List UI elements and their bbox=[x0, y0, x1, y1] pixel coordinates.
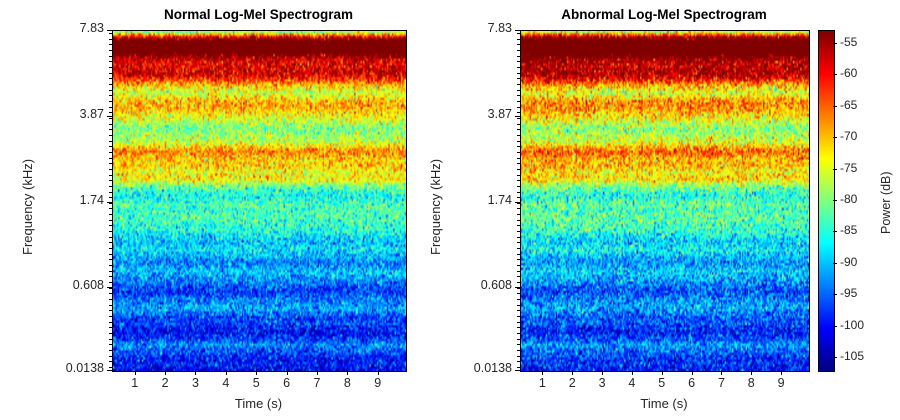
colorbar-tick-label-5: -80 bbox=[840, 192, 857, 206]
ytick-minor-abnormal bbox=[517, 316, 520, 317]
ytick-minor-abnormal bbox=[517, 67, 520, 68]
xtick-label-normal-8: 9 bbox=[358, 376, 398, 390]
ytick-minor-abnormal bbox=[517, 299, 520, 300]
ytick-minor-abnormal bbox=[517, 339, 520, 340]
ytick-minor-normal bbox=[109, 310, 112, 311]
ytick-minor-normal bbox=[109, 163, 112, 164]
xtick-label-abnormal-8: 9 bbox=[761, 376, 801, 390]
ytick-minor-normal bbox=[109, 180, 112, 181]
xtick-mark-normal-3 bbox=[226, 370, 227, 375]
ytick-minor-normal bbox=[109, 101, 112, 102]
ytick-minor-normal bbox=[109, 90, 112, 91]
ytick-minor-normal bbox=[109, 124, 112, 125]
colorbar-tick-mark-10 bbox=[833, 357, 837, 358]
ytick-minor-normal bbox=[109, 276, 112, 277]
ytick-minor-abnormal bbox=[517, 356, 520, 357]
ytick-minor-normal bbox=[109, 112, 112, 113]
ytick-minor-abnormal bbox=[517, 135, 520, 136]
colorbar-tick-mark-1 bbox=[833, 74, 837, 75]
colorbar-tick-label-2: -65 bbox=[840, 98, 857, 112]
ytick-minor-normal bbox=[109, 33, 112, 34]
ytick-label-abnormal-2: 1.74 bbox=[446, 193, 512, 207]
ytick-mark-abnormal-0 bbox=[515, 30, 520, 31]
ytick-minor-abnormal bbox=[517, 152, 520, 153]
ytick-minor-abnormal bbox=[517, 242, 520, 243]
ytick-minor-abnormal bbox=[517, 237, 520, 238]
spectrogram-image-abnormal bbox=[521, 31, 809, 371]
xtick-mark-abnormal-7 bbox=[751, 370, 752, 375]
ytick-minor-abnormal bbox=[517, 225, 520, 226]
ytick-minor-normal bbox=[109, 333, 112, 334]
ytick-minor-normal bbox=[109, 129, 112, 130]
ytick-minor-normal bbox=[109, 158, 112, 159]
colorbar-tick-mark-9 bbox=[833, 326, 837, 327]
colorbar-tick-label-8: -95 bbox=[840, 286, 857, 300]
xtick-mark-abnormal-5 bbox=[692, 370, 693, 375]
ytick-minor-abnormal bbox=[517, 73, 520, 74]
ytick-minor-normal bbox=[109, 203, 112, 204]
ytick-minor-abnormal bbox=[517, 367, 520, 368]
ytick-minor-normal bbox=[109, 84, 112, 85]
ytick-minor-abnormal bbox=[517, 169, 520, 170]
ytick-minor-normal bbox=[109, 356, 112, 357]
xtick-mark-normal-5 bbox=[287, 370, 288, 375]
ytick-label-abnormal-1: 3.87 bbox=[446, 107, 512, 121]
ytick-minor-abnormal bbox=[517, 78, 520, 79]
colorbar-tick-mark-2 bbox=[833, 106, 837, 107]
ytick-minor-normal bbox=[109, 293, 112, 294]
ytick-minor-normal bbox=[109, 39, 112, 40]
colorbar-tick-label-4: -75 bbox=[840, 161, 857, 175]
panel-title-abnormal: Abnormal Log-Mel Spectrogram bbox=[520, 7, 808, 22]
ytick-minor-normal bbox=[109, 259, 112, 260]
ytick-mark-normal-0 bbox=[107, 30, 112, 31]
colorbar-tick-label-9: -100 bbox=[840, 318, 864, 332]
colorbar-tick-mark-0 bbox=[833, 43, 837, 44]
ytick-minor-abnormal bbox=[517, 208, 520, 209]
ytick-minor-abnormal bbox=[517, 163, 520, 164]
ytick-minor-abnormal bbox=[517, 50, 520, 51]
xtick-mark-normal-1 bbox=[165, 370, 166, 375]
ytick-label-normal-1: 3.87 bbox=[38, 107, 104, 121]
ytick-minor-normal bbox=[109, 146, 112, 147]
ytick-minor-abnormal bbox=[517, 248, 520, 249]
ytick-minor-abnormal bbox=[517, 282, 520, 283]
colorbar-tick-label-10: -105 bbox=[840, 349, 864, 363]
ytick-minor-abnormal bbox=[517, 288, 520, 289]
ytick-minor-abnormal bbox=[517, 271, 520, 272]
ytick-minor-abnormal bbox=[517, 101, 520, 102]
ytick-minor-abnormal bbox=[517, 112, 520, 113]
ytick-minor-abnormal bbox=[517, 259, 520, 260]
xtick-mark-normal-8 bbox=[378, 370, 379, 375]
ytick-minor-abnormal bbox=[517, 276, 520, 277]
ytick-minor-abnormal bbox=[517, 333, 520, 334]
xtick-mark-abnormal-2 bbox=[602, 370, 603, 375]
ytick-minor-normal bbox=[109, 288, 112, 289]
colorbar-tick-mark-3 bbox=[833, 137, 837, 138]
colorbar-tick-mark-6 bbox=[833, 231, 837, 232]
ytick-minor-abnormal bbox=[517, 361, 520, 362]
ytick-minor-abnormal bbox=[517, 129, 520, 130]
xtick-mark-abnormal-4 bbox=[662, 370, 663, 375]
xtick-mark-abnormal-8 bbox=[781, 370, 782, 375]
ytick-minor-normal bbox=[109, 316, 112, 317]
ytick-label-normal-2: 1.74 bbox=[38, 193, 104, 207]
xtick-mark-abnormal-1 bbox=[572, 370, 573, 375]
ytick-minor-normal bbox=[109, 327, 112, 328]
ytick-minor-abnormal bbox=[517, 186, 520, 187]
ytick-minor-normal bbox=[109, 107, 112, 108]
colorbar-label: Power (dB) bbox=[879, 171, 893, 234]
ytick-minor-normal bbox=[109, 282, 112, 283]
ytick-minor-abnormal bbox=[517, 180, 520, 181]
ytick-mark-abnormal-1 bbox=[515, 116, 520, 117]
xtick-mark-normal-2 bbox=[195, 370, 196, 375]
ytick-minor-normal bbox=[109, 186, 112, 187]
ytick-minor-abnormal bbox=[517, 107, 520, 108]
spectrogram-image-normal bbox=[113, 31, 406, 371]
ytick-minor-abnormal bbox=[517, 146, 520, 147]
xtick-mark-abnormal-3 bbox=[632, 370, 633, 375]
ytick-minor-normal bbox=[109, 225, 112, 226]
ytick-mark-abnormal-4 bbox=[515, 370, 520, 371]
colorbar bbox=[818, 30, 835, 372]
colorbar-tick-label-7: -90 bbox=[840, 255, 857, 269]
ytick-minor-normal bbox=[109, 135, 112, 136]
ytick-minor-normal bbox=[109, 67, 112, 68]
yaxis-label-abnormal: Frequency (kHz) bbox=[428, 159, 443, 255]
ytick-minor-abnormal bbox=[517, 95, 520, 96]
ytick-minor-normal bbox=[109, 220, 112, 221]
ytick-minor-normal bbox=[109, 361, 112, 362]
ytick-minor-abnormal bbox=[517, 231, 520, 232]
ytick-minor-normal bbox=[109, 367, 112, 368]
ytick-minor-normal bbox=[109, 254, 112, 255]
xaxis-label-normal: Time (s) bbox=[112, 396, 405, 411]
xtick-mark-normal-0 bbox=[135, 370, 136, 375]
ytick-minor-normal bbox=[109, 169, 112, 170]
ytick-minor-abnormal bbox=[517, 254, 520, 255]
spectrogram-axes-abnormal bbox=[520, 30, 810, 372]
ytick-label-abnormal-3: 0.608 bbox=[446, 278, 512, 292]
ytick-label-abnormal-0: 7.83 bbox=[446, 21, 512, 35]
ytick-label-normal-0: 7.83 bbox=[38, 21, 104, 35]
ytick-minor-normal bbox=[109, 44, 112, 45]
ytick-minor-abnormal bbox=[517, 293, 520, 294]
spectrogram-axes-normal bbox=[112, 30, 407, 372]
ytick-minor-abnormal bbox=[517, 118, 520, 119]
ytick-minor-abnormal bbox=[517, 350, 520, 351]
ytick-minor-abnormal bbox=[517, 175, 520, 176]
ytick-label-normal-3: 0.608 bbox=[38, 278, 104, 292]
ytick-minor-abnormal bbox=[517, 84, 520, 85]
ytick-minor-abnormal bbox=[517, 39, 520, 40]
xtick-mark-abnormal-6 bbox=[721, 370, 722, 375]
colorbar-tick-mark-7 bbox=[833, 263, 837, 264]
xaxis-label-abnormal: Time (s) bbox=[520, 396, 808, 411]
xtick-mark-normal-4 bbox=[256, 370, 257, 375]
colorbar-gradient bbox=[819, 31, 834, 371]
ytick-minor-normal bbox=[109, 50, 112, 51]
ytick-minor-abnormal bbox=[517, 197, 520, 198]
ytick-minor-abnormal bbox=[517, 192, 520, 193]
ytick-minor-abnormal bbox=[517, 56, 520, 57]
ytick-minor-normal bbox=[109, 339, 112, 340]
ytick-minor-normal bbox=[109, 208, 112, 209]
ytick-minor-normal bbox=[109, 237, 112, 238]
colorbar-tick-label-0: -55 bbox=[840, 35, 857, 49]
ytick-minor-abnormal bbox=[517, 310, 520, 311]
ytick-minor-normal bbox=[109, 271, 112, 272]
ytick-minor-normal bbox=[109, 192, 112, 193]
colorbar-tick-mark-4 bbox=[833, 169, 837, 170]
yaxis-label-normal: Frequency (kHz) bbox=[20, 159, 35, 255]
ytick-minor-abnormal bbox=[517, 61, 520, 62]
ytick-minor-normal bbox=[109, 242, 112, 243]
ytick-minor-abnormal bbox=[517, 220, 520, 221]
ytick-minor-normal bbox=[109, 78, 112, 79]
ytick-minor-abnormal bbox=[517, 265, 520, 266]
ytick-minor-abnormal bbox=[517, 327, 520, 328]
ytick-label-normal-4: 0.0138 bbox=[38, 361, 104, 375]
xtick-mark-normal-6 bbox=[317, 370, 318, 375]
colorbar-tick-mark-5 bbox=[833, 200, 837, 201]
ytick-minor-normal bbox=[109, 197, 112, 198]
ytick-minor-normal bbox=[109, 305, 112, 306]
colorbar-tick-label-6: -85 bbox=[840, 223, 857, 237]
ytick-minor-normal bbox=[109, 322, 112, 323]
ytick-label-abnormal-4: 0.0138 bbox=[446, 361, 512, 375]
ytick-minor-abnormal bbox=[517, 203, 520, 204]
ytick-minor-normal bbox=[109, 299, 112, 300]
xtick-mark-abnormal-0 bbox=[542, 370, 543, 375]
xtick-mark-normal-7 bbox=[347, 370, 348, 375]
ytick-minor-abnormal bbox=[517, 322, 520, 323]
ytick-minor-abnormal bbox=[517, 33, 520, 34]
ytick-minor-abnormal bbox=[517, 305, 520, 306]
colorbar-tick-mark-8 bbox=[833, 294, 837, 295]
ytick-mark-normal-4 bbox=[107, 370, 112, 371]
ytick-minor-abnormal bbox=[517, 44, 520, 45]
ytick-minor-normal bbox=[109, 350, 112, 351]
ytick-minor-normal bbox=[109, 73, 112, 74]
ytick-minor-abnormal bbox=[517, 90, 520, 91]
ytick-minor-abnormal bbox=[517, 344, 520, 345]
ytick-minor-normal bbox=[109, 214, 112, 215]
ytick-minor-abnormal bbox=[517, 124, 520, 125]
ytick-minor-normal bbox=[109, 95, 112, 96]
ytick-minor-normal bbox=[109, 152, 112, 153]
colorbar-tick-label-3: -70 bbox=[840, 129, 857, 143]
ytick-mark-normal-1 bbox=[107, 116, 112, 117]
ytick-minor-normal bbox=[109, 175, 112, 176]
ytick-minor-normal bbox=[109, 248, 112, 249]
ytick-minor-normal bbox=[109, 344, 112, 345]
colorbar-tick-label-1: -60 bbox=[840, 66, 857, 80]
ytick-minor-normal bbox=[109, 56, 112, 57]
ytick-minor-abnormal bbox=[517, 158, 520, 159]
panel-title-normal: Normal Log-Mel Spectrogram bbox=[112, 7, 405, 22]
ytick-minor-normal bbox=[109, 118, 112, 119]
ytick-minor-normal bbox=[109, 265, 112, 266]
ytick-minor-normal bbox=[109, 231, 112, 232]
ytick-minor-normal bbox=[109, 141, 112, 142]
spectrogram-figure: Normal Log-Mel Spectrogram7.833.871.740.… bbox=[0, 0, 900, 420]
ytick-minor-normal bbox=[109, 61, 112, 62]
ytick-minor-abnormal bbox=[517, 214, 520, 215]
ytick-minor-abnormal bbox=[517, 141, 520, 142]
